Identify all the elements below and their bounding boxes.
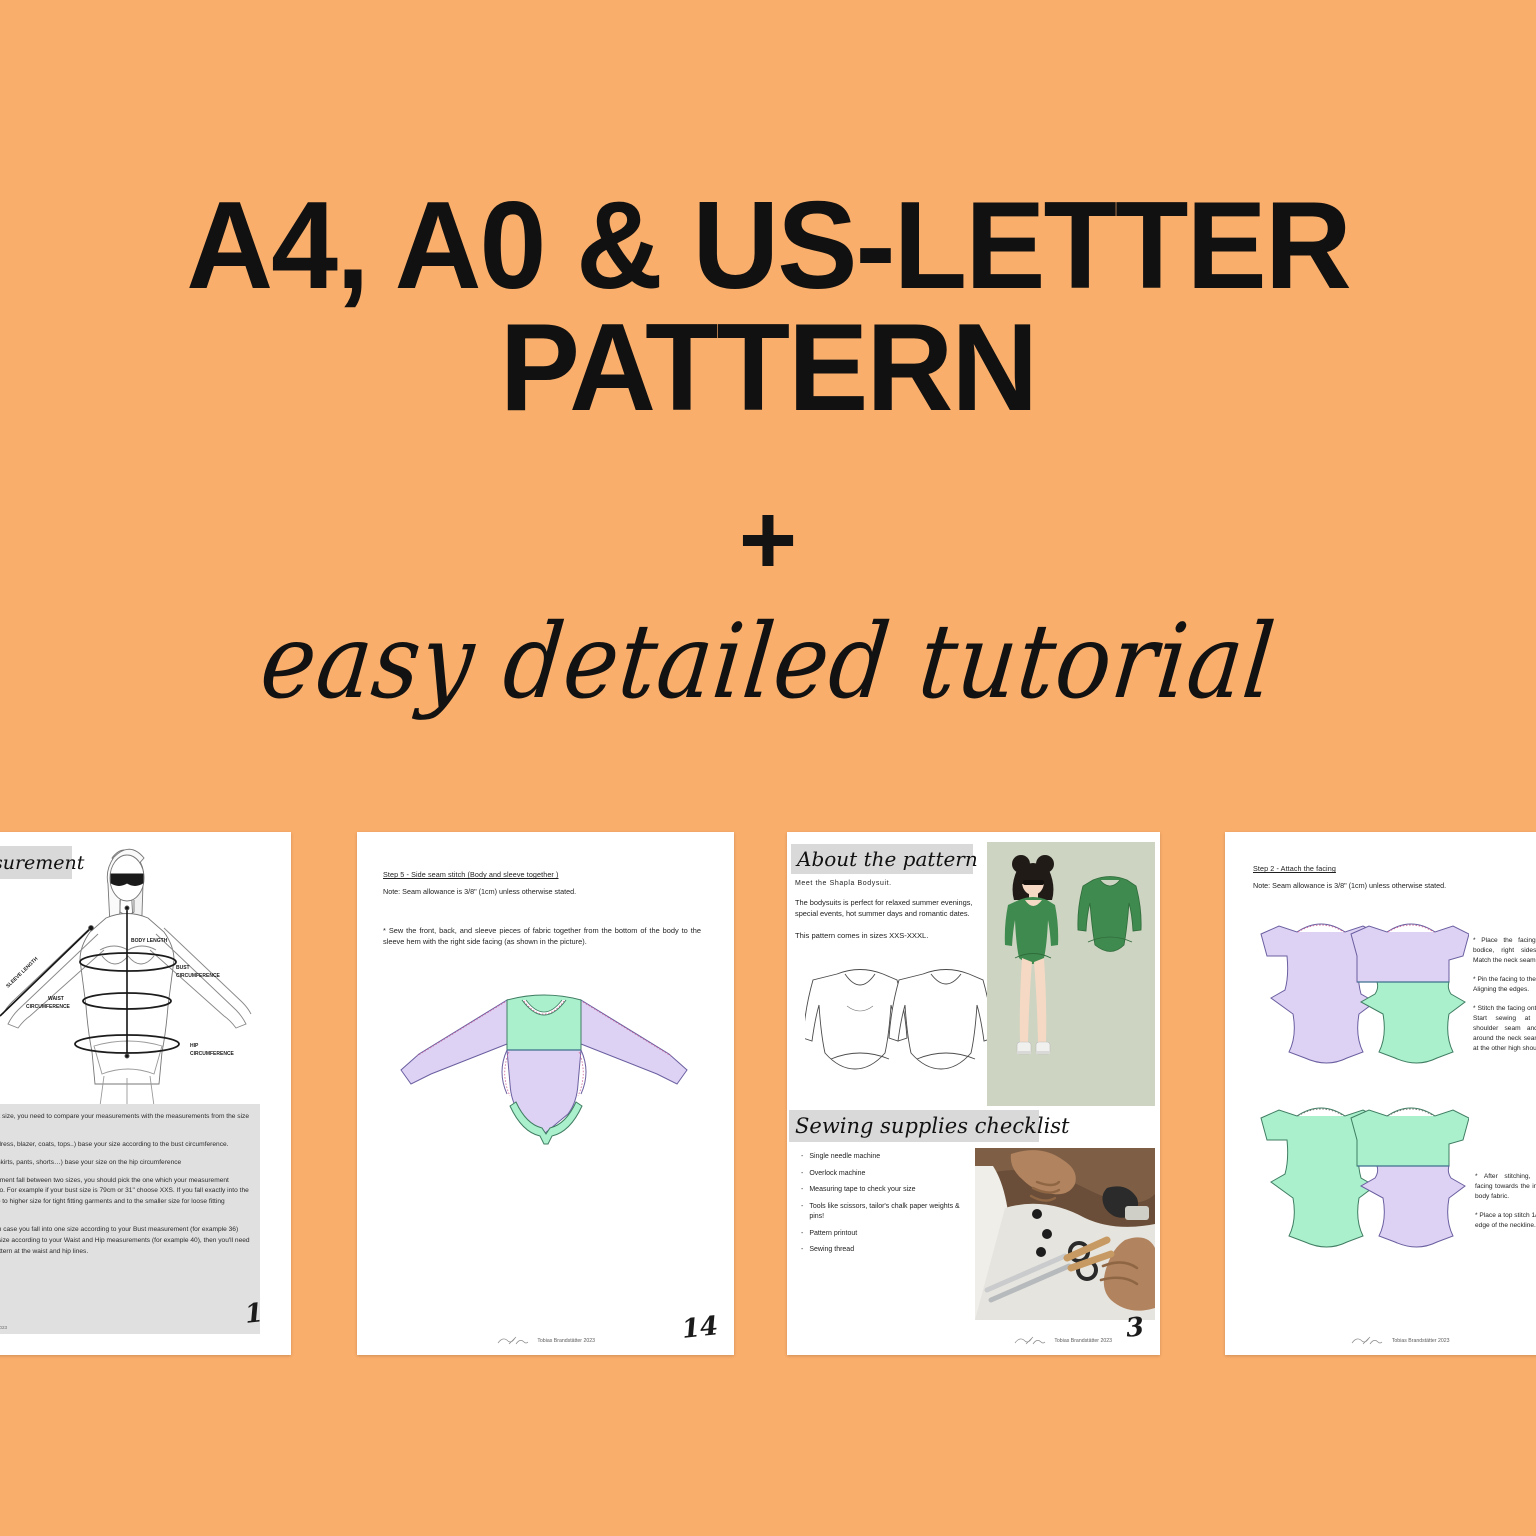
list-item: -Tools like scissors, tailor's chalk pap… [801, 1202, 971, 1223]
list-item: -Overlock machine [801, 1169, 971, 1180]
page2-number: 14 [680, 1311, 719, 1345]
page3-checklist-heading-band: Sewing supplies checklist [789, 1110, 1039, 1142]
bodysuit-sleeve-illustration [379, 982, 709, 1182]
checklist-label: Measuring tape to check your size [809, 1185, 915, 1196]
label-hip-1: HIP [190, 1043, 199, 1049]
page4-note: Note: Seam allowance is 3/8" (1cm) unles… [1253, 881, 1536, 890]
label-hip-2: CIRCUMFERENCE [190, 1051, 235, 1057]
list-item: -Sewing thread [801, 1245, 971, 1256]
page3-checklist-heading: Sewing supplies checklist [795, 1114, 1070, 1138]
dash-bullet: - [801, 1152, 803, 1163]
document-preview-page-2[interactable]: Step 5 - Side seam stitch (Body and slee… [357, 832, 734, 1355]
checklist-label: Overlock machine [809, 1169, 865, 1180]
headline-line-1: A4, A0 & US-LETTER [186, 177, 1350, 315]
label-bust-2: CIRCUMFERENCE [176, 973, 221, 979]
page2-note: Note: Seam allowance is 3/8" (1cm) unles… [383, 887, 701, 896]
page3-heading: About the pattern [797, 847, 978, 871]
page2-footer: Tobias Brandstätter 2023 [537, 1338, 595, 1344]
page1-paragraph-5: IMPORTANT! In case you fall into one siz… [0, 1225, 250, 1257]
facing-pieces-bottom [1239, 1104, 1469, 1284]
dash-bullet: - [801, 1169, 803, 1180]
page1-size-guide-text: To pick the right size, you need to comp… [0, 1104, 260, 1334]
label-sleeve-length: SLEEVE LENGTH [5, 956, 39, 990]
label-waist-1: WAIST [48, 996, 64, 1002]
page2-footer-row: Tobias Brandstätter 2023 [357, 1336, 734, 1345]
page3-number: 3 [1124, 1312, 1145, 1344]
bodysuit-flat-sketches [805, 966, 987, 1092]
page1-number: 1 [243, 1298, 264, 1330]
page3-description: The bodysuits is perfect for relaxed sum… [795, 898, 979, 919]
label-body-length: BODY LENGTH [131, 938, 168, 944]
page3-intro: Meet the Shapla Bodysuit. [795, 880, 979, 887]
cutting-fabric-photo [975, 1148, 1155, 1320]
page4-bullet-5: * Place a top stitch 1/8" from the edge … [1475, 1211, 1536, 1231]
photo-content [975, 1148, 1155, 1320]
page2-heading: Step 5 - Side seam stitch (Body and slee… [383, 870, 701, 879]
plus-separator: + [0, 490, 1536, 590]
page1-footer: Tobias Brandstätter 2023 [0, 1325, 7, 1330]
hero-section: A4, A0 & US-LETTER PATTERN + easy detail… [0, 0, 1536, 830]
page4-footer: Tobias Brandstätter 2023 [1392, 1338, 1450, 1344]
dash-bullet: - [801, 1229, 803, 1240]
signature-icon [1350, 1336, 1384, 1345]
signature-icon [496, 1336, 530, 1345]
list-item: -Single needle machine [801, 1152, 971, 1163]
subheadline: easy detailed tutorial [0, 602, 1536, 722]
signature-icon [1013, 1336, 1047, 1345]
page4-footer-row: Tobias Brandstätter 2023 [1225, 1336, 1536, 1345]
model-figure [987, 842, 1155, 1106]
body-measurement-diagram: BODY LENGTH BUST CIRCUMFERENCE WAIST CIR… [0, 838, 256, 1106]
page3-footer-row: Tobias Brandstätter 2023 [787, 1336, 1160, 1345]
sewing-supplies-list: -Single needle machine -Overlock machine… [801, 1152, 971, 1262]
page2-body: * Sew the front, back, and sleeve pieces… [383, 926, 701, 947]
page4-bullet-3: * Stitch the facing onto the body. Start… [1473, 1004, 1536, 1054]
page4-bullet-2: * Pin the facing to the neck lines. Alig… [1473, 975, 1536, 995]
page1-paragraph-1: To pick the right size, you need to comp… [0, 1112, 250, 1133]
label-waist-2: CIRCUMFERENCE [26, 1004, 71, 1010]
page-title: A4, A0 & US-LETTER PATTERN [23, 186, 1513, 429]
page1-paragraph-4: If your measurement fall between two siz… [0, 1176, 250, 1219]
page3-heading-band: About the pattern [791, 844, 973, 874]
list-item: -Pattern printout [801, 1229, 971, 1240]
headline-line-2: PATTERN [23, 308, 1513, 430]
page3-sizes: This pattern comes in sizes XXS-XXXL. [795, 931, 979, 940]
dash-bullet: - [801, 1202, 803, 1223]
page1-paragraph-2: For garments (dress, blazer, coats, tops… [0, 1140, 250, 1151]
checklist-label: Single needle machine [809, 1152, 880, 1163]
page4-bullet-1: * Place the facing onto the bodice, righ… [1473, 936, 1536, 966]
document-preview-page-4[interactable]: Step 2 - Attach the facing Note: Seam al… [1225, 832, 1536, 1355]
page1-paragraph-3: For garments (skirts, pants, shorts…) ba… [0, 1158, 250, 1169]
model-illustration-box [987, 842, 1155, 1106]
dash-bullet: - [801, 1185, 803, 1196]
page4-bullet-4: * After stitching, press the facing towa… [1475, 1172, 1536, 1202]
dash-bullet: - [801, 1245, 803, 1256]
page4-heading: Step 2 - Attach the facing [1253, 864, 1536, 873]
facing-pieces-top [1239, 920, 1469, 1100]
page3-footer: Tobias Brandstätter 2023 [1054, 1338, 1112, 1344]
document-preview-page-3[interactable]: About the pattern Meet the Shapla Bodysu… [787, 832, 1160, 1355]
checklist-label: Tools like scissors, tailor's chalk pape… [809, 1202, 971, 1223]
list-item: -Measuring tape to check your size [801, 1185, 971, 1196]
checklist-label: Sewing thread [809, 1245, 854, 1256]
label-bust-1: BUST [176, 965, 190, 971]
document-preview-page-1[interactable]: Size measurement [0, 832, 291, 1355]
checklist-label: Pattern printout [809, 1229, 857, 1240]
